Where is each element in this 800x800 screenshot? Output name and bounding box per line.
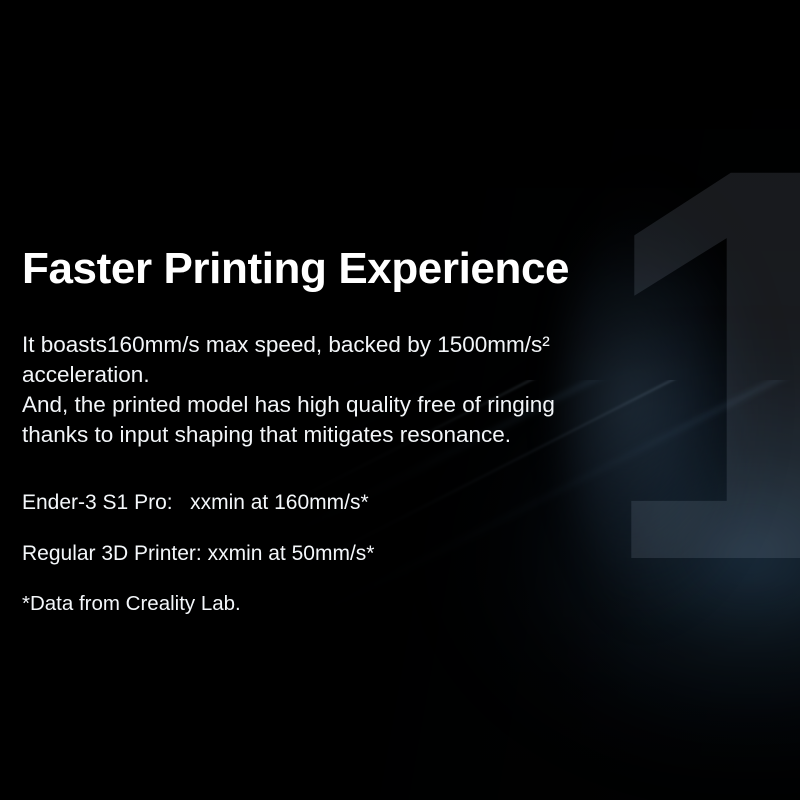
footnote-data-source: *Data from Creality Lab.	[22, 594, 722, 615]
spec-list: Ender-3 S1 Pro: xxmin at 160mm/s* Regula…	[22, 492, 722, 615]
page-title: Faster Printing Experience	[22, 244, 569, 294]
body-line: acceleration.	[22, 360, 784, 390]
body-line: thanks to input shaping that mitigates r…	[22, 420, 784, 450]
body-line: And, the printed model has high quality …	[22, 390, 784, 420]
spec-item-ender3-s1-pro: Ender-3 S1 Pro: xxmin at 160mm/s*	[22, 492, 722, 513]
slide-content: Faster Printing Experience It boasts160m…	[22, 0, 782, 800]
slide-canvas: 1 Faster Printing Experience It boasts16…	[0, 0, 800, 800]
body-paragraph: It boasts160mm/s max speed, backed by 15…	[22, 330, 784, 450]
body-line: It boasts160mm/s max speed, backed by 15…	[22, 330, 784, 360]
spec-item-regular-3d-printer: Regular 3D Printer: xxmin at 50mm/s*	[22, 543, 722, 564]
